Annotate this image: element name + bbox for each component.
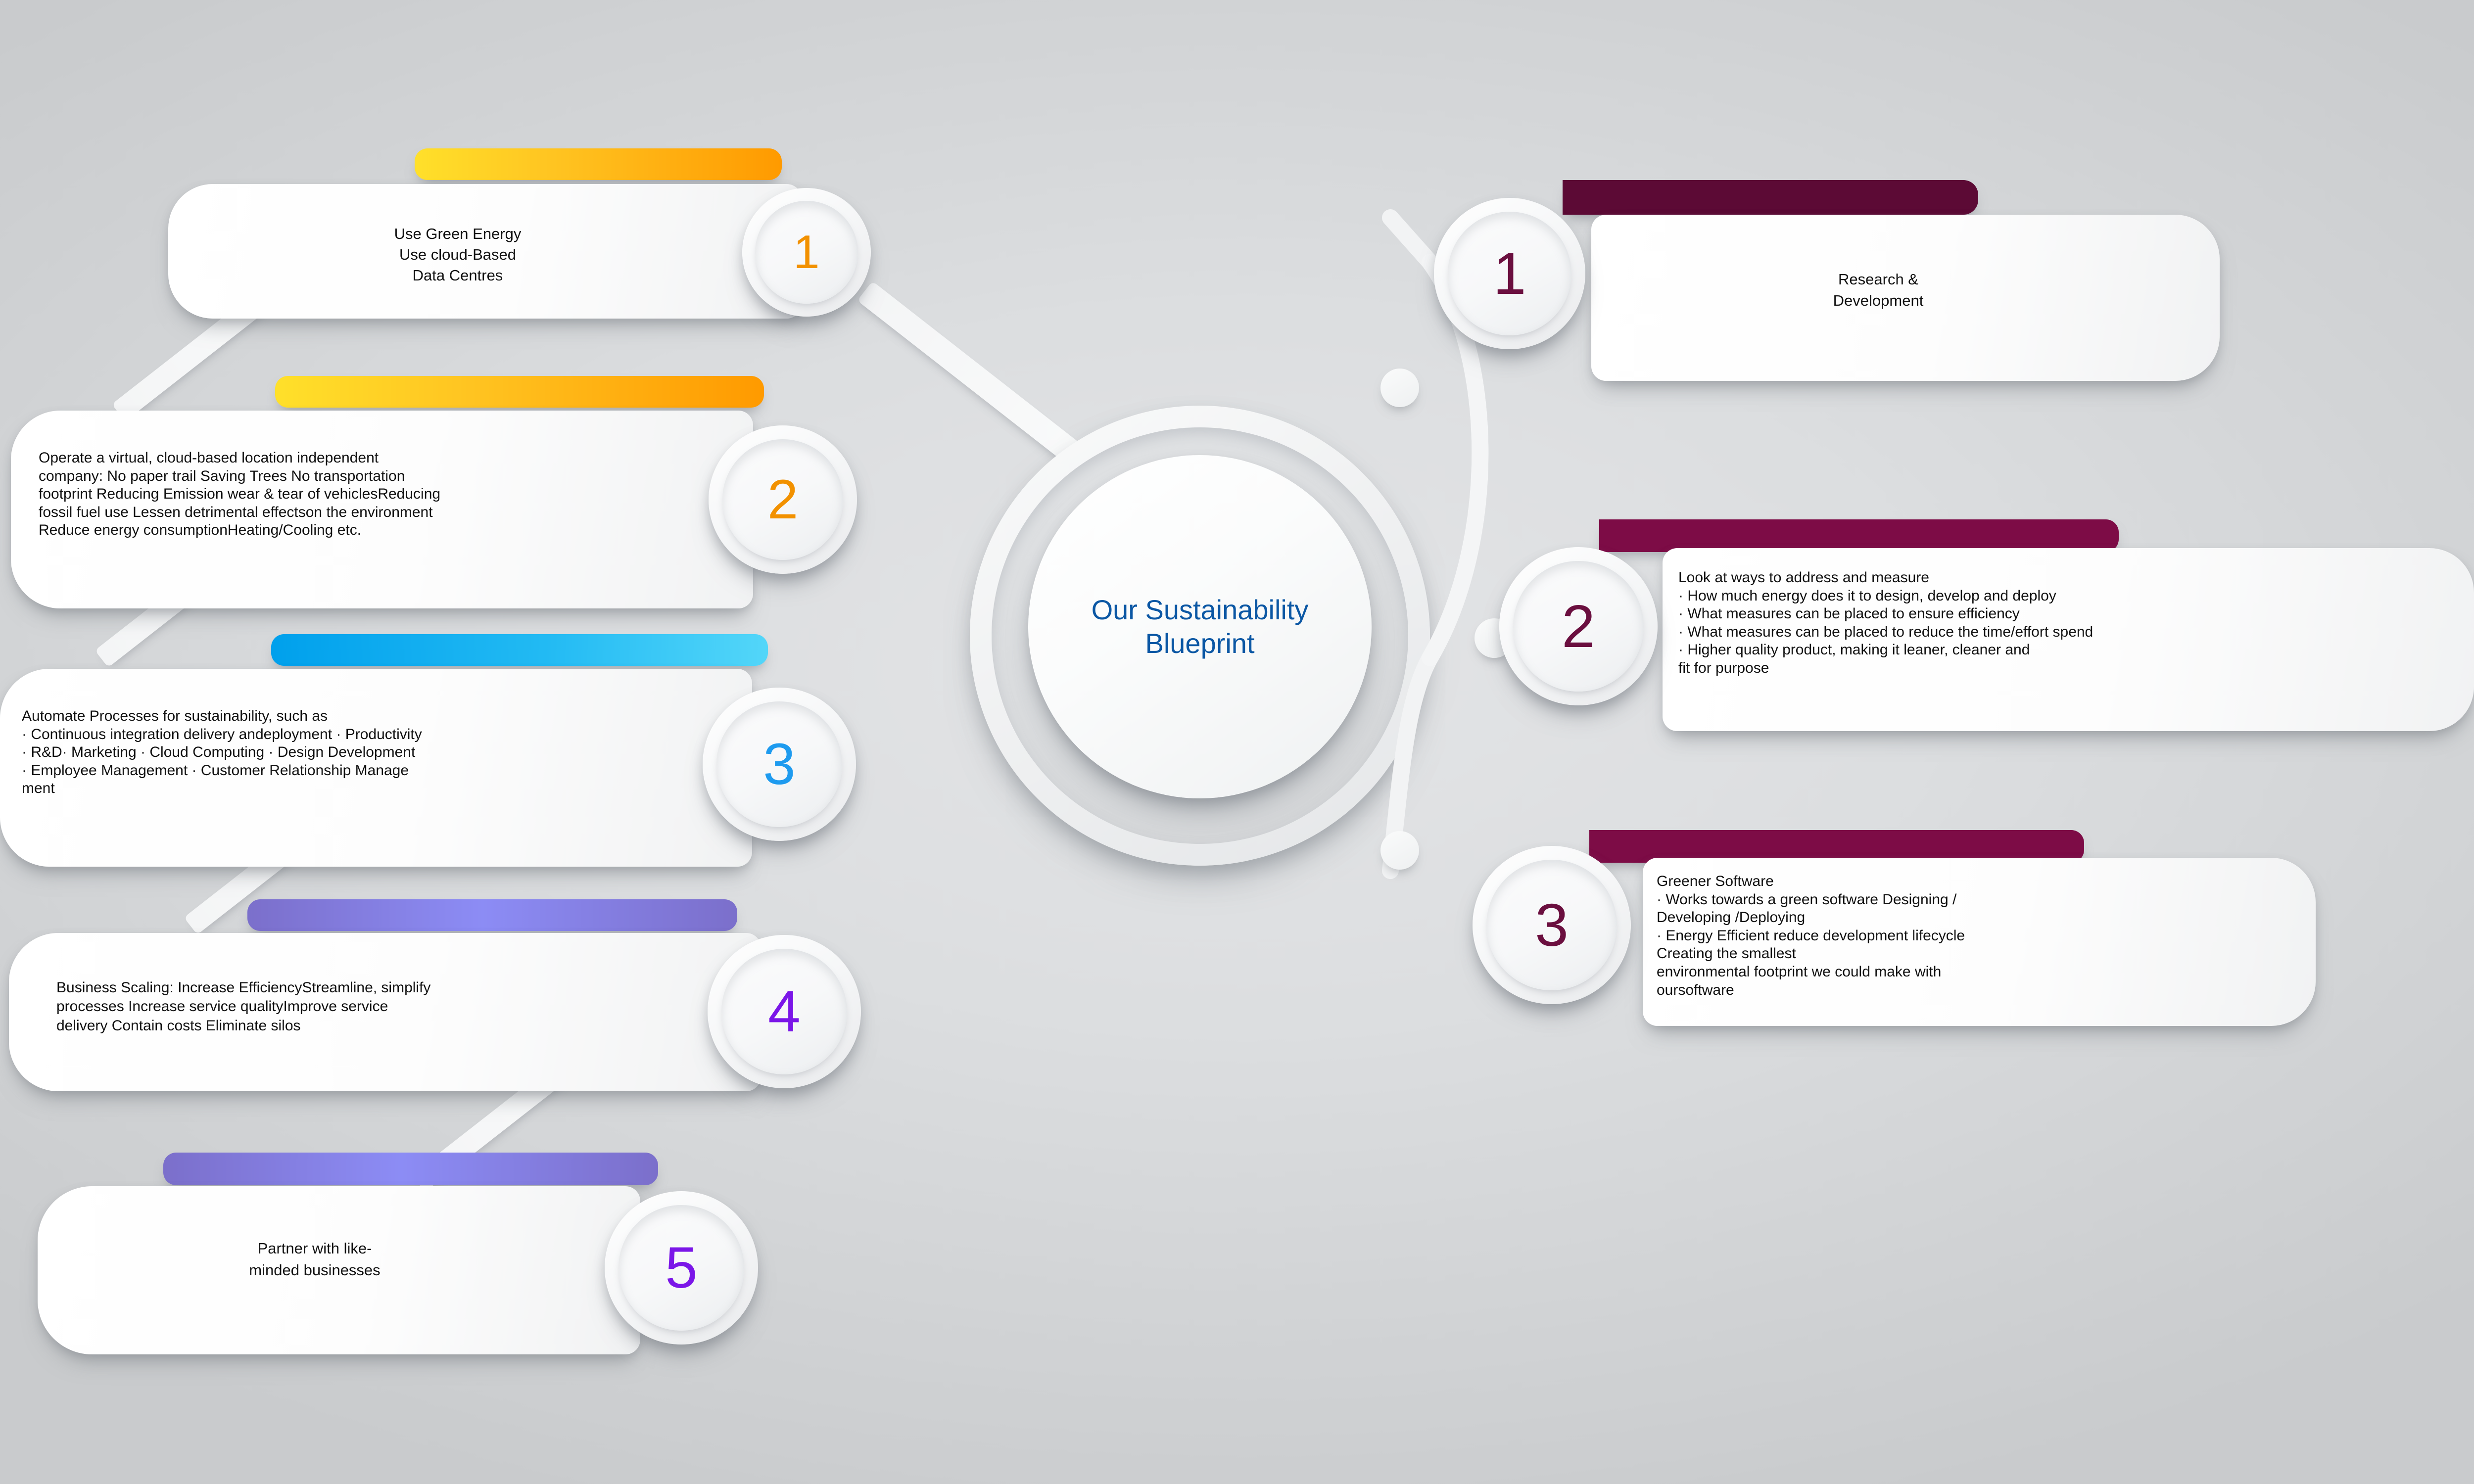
left-number-4: 4 [768,982,801,1041]
left-number-bubble-4[interactable]: 4 [708,935,861,1088]
left-number-bubble-3[interactable]: 3 [703,688,856,841]
left-card-3-text: Automate Processes for sustainability, s… [22,707,734,798]
left-card-4-text: Business Scaling: Increase EfficiencyStr… [56,978,690,1035]
left-card-5-accent-bar [163,1153,658,1185]
left-card-1-accent-bar [415,148,782,180]
left-card-4[interactable]: Business Scaling: Increase EfficiencyStr… [9,933,761,1091]
left-card-1-text: Use Green Energy Use cloud-Based Data Ce… [198,224,717,286]
left-number-bubble-5[interactable]: 5 [605,1191,758,1345]
right-card-2[interactable]: Look at ways to address and measure · Ho… [1663,548,2474,731]
left-card-3-accent-bar [271,634,768,666]
right-card-1-accent-bar [1563,180,1978,215]
right-number-2: 2 [1562,596,1595,656]
left-card-2[interactable]: Operate a virtual, cloud-based location … [11,411,753,608]
infographic-canvas: Use Green Energy Use cloud-Based Data Ce… [0,0,2474,1484]
right-connector-dot-3 [1380,831,1419,870]
right-card-2-text: Look at ways to address and measure · Ho… [1678,569,2460,678]
left-card-2-text: Operate a virtual, cloud-based location … [39,449,731,540]
left-card-2-accent-bar [275,376,764,408]
left-number-3: 3 [763,735,796,793]
center-disc: Our Sustainability Blueprint [1028,455,1372,798]
left-number-2: 2 [767,472,798,527]
right-number-1: 1 [1493,244,1526,303]
left-number-bubble-1[interactable]: 1 [742,188,871,317]
right-number-bubble-2[interactable]: 2 [1499,547,1658,705]
right-card-3[interactable]: Greener Software · Works towards a green… [1643,858,2316,1026]
left-card-5[interactable]: Partner with like- minded businesses [38,1186,640,1354]
left-number-bubble-2[interactable]: 2 [709,425,857,574]
left-number-1: 1 [793,229,819,276]
right-number-3: 3 [1535,895,1569,955]
left-number-5: 5 [665,1239,698,1297]
left-card-3[interactable]: Automate Processes for sustainability, s… [0,669,752,867]
right-card-2-accent-bar [1599,519,2119,552]
left-card-4-accent-bar [247,899,737,931]
right-number-bubble-1[interactable]: 1 [1434,198,1585,349]
left-card-1[interactable]: Use Green Energy Use cloud-Based Data Ce… [168,184,802,319]
right-card-3-text: Greener Software · Works towards a green… [1657,873,2315,999]
center-title: Our Sustainability Blueprint [1092,593,1309,661]
right-card-1[interactable]: Research & Development [1591,215,2220,381]
left-card-5-text: Partner with like- minded businesses [67,1238,562,1281]
right-connector-dot-1 [1380,369,1419,407]
right-card-1-text: Research & Development [1631,269,2126,312]
right-number-bubble-3[interactable]: 3 [1473,846,1631,1004]
